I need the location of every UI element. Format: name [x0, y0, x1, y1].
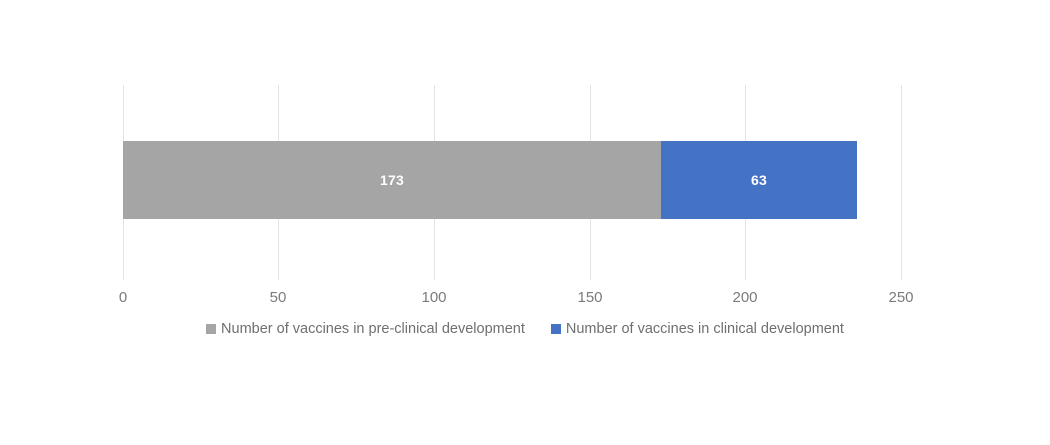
bar-segment-pre-clinical[interactable]: 173 — [123, 141, 661, 219]
bar-data-label-pre-clinical: 173 — [380, 173, 404, 187]
xtick-label-250: 250 — [888, 290, 913, 305]
bar-segment-clinical[interactable]: 63 — [661, 141, 857, 219]
stacked-bar-chart: 173 63 0 50 100 150 200 250 Number of va… — [0, 0, 1050, 445]
bar-data-label-clinical: 63 — [751, 173, 767, 187]
legend-label-clinical: Number of vaccines in clinical developme… — [566, 322, 844, 337]
legend-item-clinical[interactable]: Number of vaccines in clinical developme… — [551, 322, 844, 337]
xtick-label-100: 100 — [421, 290, 446, 305]
chart-legend: Number of vaccines in pre-clinical devel… — [0, 322, 1050, 337]
legend-swatch-icon-clinical — [551, 324, 561, 334]
legend-item-pre-clinical[interactable]: Number of vaccines in pre-clinical devel… — [206, 322, 525, 337]
xtick-label-0: 0 — [119, 290, 127, 305]
legend-swatch-icon-pre-clinical — [206, 324, 216, 334]
xtick-label-150: 150 — [577, 290, 602, 305]
legend-label-pre-clinical: Number of vaccines in pre-clinical devel… — [221, 322, 525, 337]
xtick-label-50: 50 — [270, 290, 287, 305]
xtick-label-200: 200 — [732, 290, 757, 305]
gridline-250 — [901, 85, 902, 280]
